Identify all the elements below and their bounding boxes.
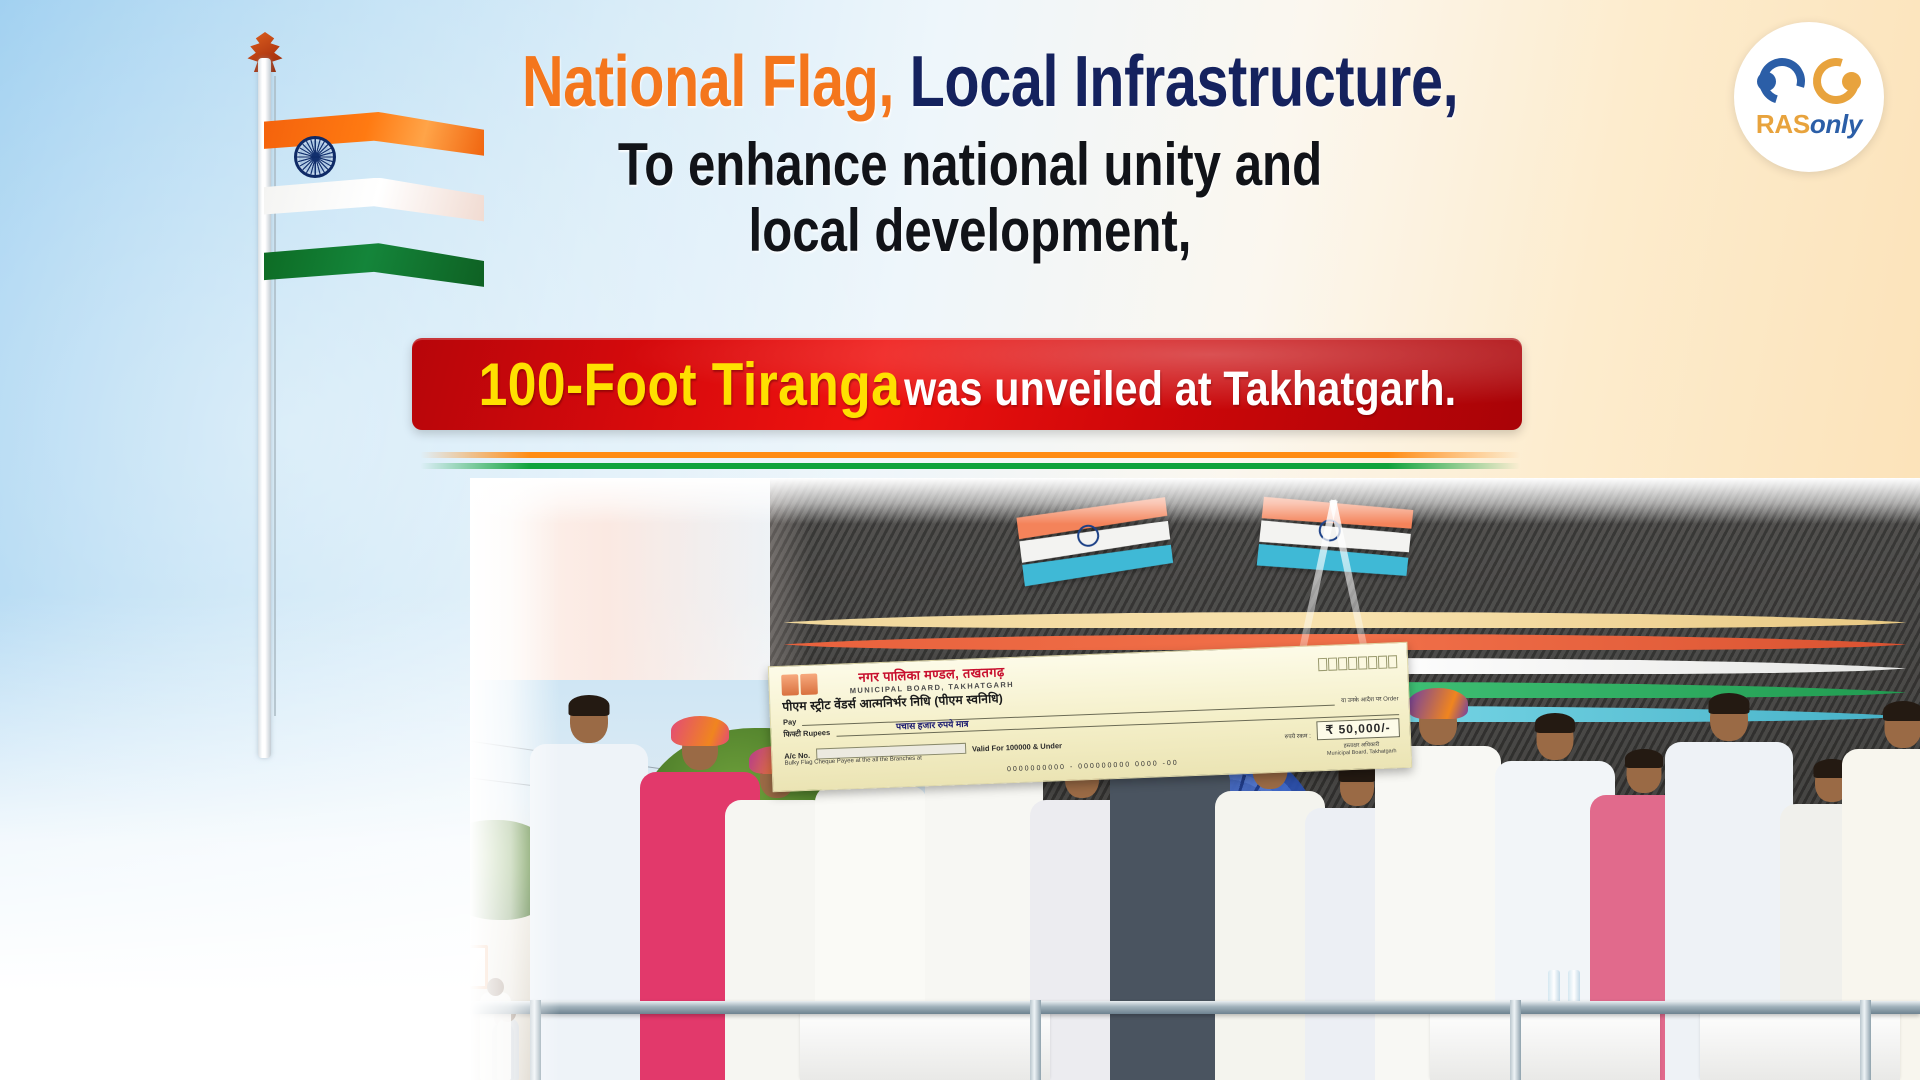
red-highlight-banner: 100-Foot Tiranga was unveiled at Takhatg… xyxy=(412,338,1522,430)
logo-text-ras: RAS xyxy=(1756,109,1810,139)
rasonly-logo[interactable]: RASonly xyxy=(1734,22,1884,172)
cheque-order-label: या उनके आदेश पर Order xyxy=(1341,696,1399,706)
stage-officials-group xyxy=(470,478,1920,1080)
rail-post xyxy=(1860,1000,1871,1080)
chakra-spokes xyxy=(297,139,333,175)
banner-rest-text: was unveiled at Takhatgarh. xyxy=(904,363,1456,416)
tree xyxy=(470,820,560,920)
cheque-rupees-label: फिफ्टी Rupees xyxy=(783,728,830,739)
logo-wordmark: RASonly xyxy=(1756,109,1862,140)
ceremonial-cheque: नगर पालिका मण्डल, तखतगढ़ MUNICIPAL BOARD… xyxy=(768,642,1412,792)
cheque-amount-label: रुपये रकम : xyxy=(1285,733,1311,741)
infinity-loop-icon xyxy=(1757,55,1861,107)
tricolour-divider xyxy=(420,452,1520,474)
headline-part-local-infrastructure: Local Infrastructure, xyxy=(910,42,1459,122)
rail-post xyxy=(1510,1000,1521,1080)
poster-canvas: National Flag, Local Infrastructure, To … xyxy=(0,0,1920,1080)
headline-line-3: local development, xyxy=(511,199,1429,263)
headline-line-1: National Flag, Local Infrastructure, xyxy=(522,46,1418,119)
cheque-pay-label: Pay xyxy=(783,717,797,727)
headline-line-2: To enhance national unity and xyxy=(511,133,1429,197)
rail-post xyxy=(1030,1000,1041,1080)
cheque-amount-box: ₹ 50,000/- xyxy=(1316,719,1400,741)
ashoka-chakra-icon xyxy=(294,136,336,178)
ceremonial-turban xyxy=(671,716,729,746)
logo-dot-blue xyxy=(1757,72,1776,91)
event-photograph: नगर पालिका मण्डल, तखतगढ़ MUNICIPAL BOARD… xyxy=(470,478,1920,1080)
cheque-amount-words: पचास हजार रुपये मात्र xyxy=(896,719,969,733)
draped-table xyxy=(1430,1008,1660,1080)
cheque-date-boxes xyxy=(1318,655,1397,671)
front-safety-rail xyxy=(470,1001,1920,1014)
divider-stripe-green xyxy=(420,463,1520,469)
headline-part-national-flag: National Flag, xyxy=(522,42,894,122)
draped-table xyxy=(800,1008,1050,1080)
logo-text-only: only xyxy=(1810,109,1862,139)
rail-post xyxy=(530,1000,541,1080)
banner-highlight-text: 100-Foot Tiranga xyxy=(478,351,900,418)
headline-block: National Flag, Local Infrastructure, To … xyxy=(410,46,1530,263)
stage-person xyxy=(530,690,648,1080)
roadside-billboard xyxy=(470,945,488,989)
ceremonial-turban xyxy=(1408,688,1468,719)
cheque-signatory: हस्ताक्षर अधिकारी Municipal Board, Takha… xyxy=(1327,742,1397,758)
cheque-leader-photos xyxy=(781,674,818,696)
logo-dot-orange xyxy=(1842,72,1861,91)
red-banner-inner: 100-Foot Tiranga was unveiled at Takhatg… xyxy=(478,350,1456,419)
divider-stripe-saffron xyxy=(420,452,1520,458)
